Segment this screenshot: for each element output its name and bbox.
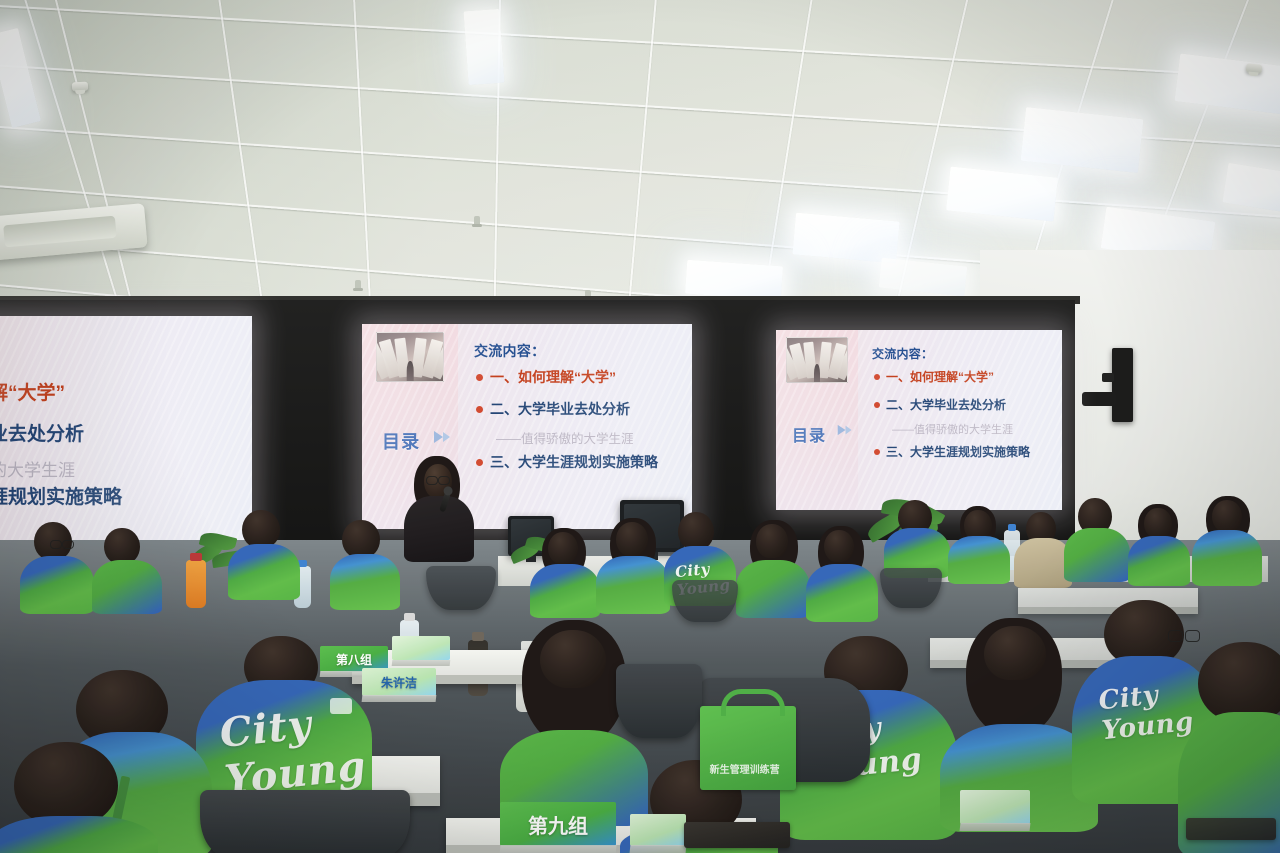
slide-subnote: ——值得骄傲的大学生涯 <box>496 428 634 447</box>
chair <box>200 790 410 853</box>
attendee <box>948 506 1014 580</box>
slide-item-2: 二、大学毕业去处分析 <box>0 419 84 446</box>
attendee <box>736 520 812 614</box>
play-arrow-icon <box>836 422 855 443</box>
ceiling-light <box>463 9 504 85</box>
glasses <box>50 540 74 547</box>
attendee <box>596 518 672 612</box>
attendee <box>530 528 602 614</box>
uniform-patch <box>330 698 352 714</box>
slide-subnote: ——值得骄傲的大学生涯 <box>0 456 75 481</box>
contents-label: 目录 <box>792 422 826 446</box>
slide-item-3: 三、大学生涯规划实施策略 <box>886 443 1030 460</box>
slide-subnote: ——值得骄傲的大学生涯 <box>892 421 1013 437</box>
chair <box>426 566 496 610</box>
projection-screen-left: 交流内容： 一、如何理解“大学” 二、大学毕业去处分析 ——值得骄傲的大学生涯 … <box>0 316 252 548</box>
smoke-detector <box>72 82 88 92</box>
slide-item-1: 一、如何理解“大学” <box>0 378 65 405</box>
slide-bullet-dot <box>874 402 880 408</box>
attendee <box>330 520 402 606</box>
name-card: 朱许洁 <box>362 668 436 696</box>
smoke-detector <box>1246 63 1263 74</box>
tent-card-label: 第九组 <box>528 810 588 839</box>
tent-card-label: 第八组 <box>336 651 372 668</box>
name-card <box>392 636 450 660</box>
attendee <box>20 522 96 610</box>
name-card-label: 朱许洁 <box>381 674 417 691</box>
slide-bullet-dot <box>874 449 880 455</box>
attendee <box>92 528 164 612</box>
wall-speaker <box>1112 348 1133 422</box>
glasses <box>1168 630 1200 640</box>
ceiling-light <box>792 213 899 264</box>
orange-drink-bottle <box>186 560 206 608</box>
slide-bullet-dot <box>476 406 483 413</box>
sprinkler-head <box>474 216 480 226</box>
slide-title: 交流内容： <box>474 341 545 361</box>
chair <box>616 664 702 738</box>
tote-bag: 新生管理训练营 <box>700 706 796 790</box>
book-photo <box>786 337 848 383</box>
lecture-hall-photo: 交流内容： 一、如何理解“大学” 二、大学毕业去处分析 ——值得骄傲的大学生涯 … <box>0 0 1280 853</box>
contents-label: 目录 <box>382 428 420 454</box>
attendee <box>1128 504 1192 582</box>
notebook <box>1186 818 1276 840</box>
slide-bullet-dot <box>874 374 880 380</box>
presenter <box>398 452 484 562</box>
speaker-bracket <box>1082 392 1116 406</box>
attendee <box>228 510 302 596</box>
attendee <box>1192 496 1264 584</box>
notebook <box>684 822 790 848</box>
slide-title: 交流内容： <box>872 345 933 362</box>
slide-bullet-dot <box>476 374 483 381</box>
attendee <box>884 500 954 576</box>
chair <box>672 580 738 622</box>
projection-screen-right: 目录 交流内容： 一、如何理解“大学” 二、大学毕业去处分析 ——值得骄傲的大学… <box>776 330 1062 510</box>
slide-item-3: 三、大学生涯规划实施策略 <box>490 452 658 472</box>
name-card <box>630 814 686 846</box>
slide-item-1: 一、如何理解“大学” <box>490 367 616 387</box>
slide-item-2: 二、大学毕业去处分析 <box>886 396 1006 413</box>
slide-item-3: 三、大学生涯规划实施策略 <box>0 482 122 509</box>
attendee-foreground <box>0 742 160 853</box>
attendee <box>806 526 880 618</box>
slide-item-2: 二、大学毕业去处分析 <box>490 399 630 419</box>
ceiling-light <box>685 260 783 301</box>
chair <box>880 568 942 608</box>
slide-item-1: 一、如何理解“大学” <box>886 368 994 385</box>
table-tent-card: 第九组 <box>500 802 616 846</box>
attendee <box>1064 498 1132 580</box>
tote-bag-text: 新生管理训练营 <box>710 765 788 777</box>
name-card <box>960 790 1030 824</box>
play-arrow-icon <box>432 428 454 451</box>
torso <box>404 496 474 562</box>
glasses <box>426 476 450 483</box>
sprinkler-head <box>355 280 361 290</box>
book-photo <box>376 332 444 382</box>
